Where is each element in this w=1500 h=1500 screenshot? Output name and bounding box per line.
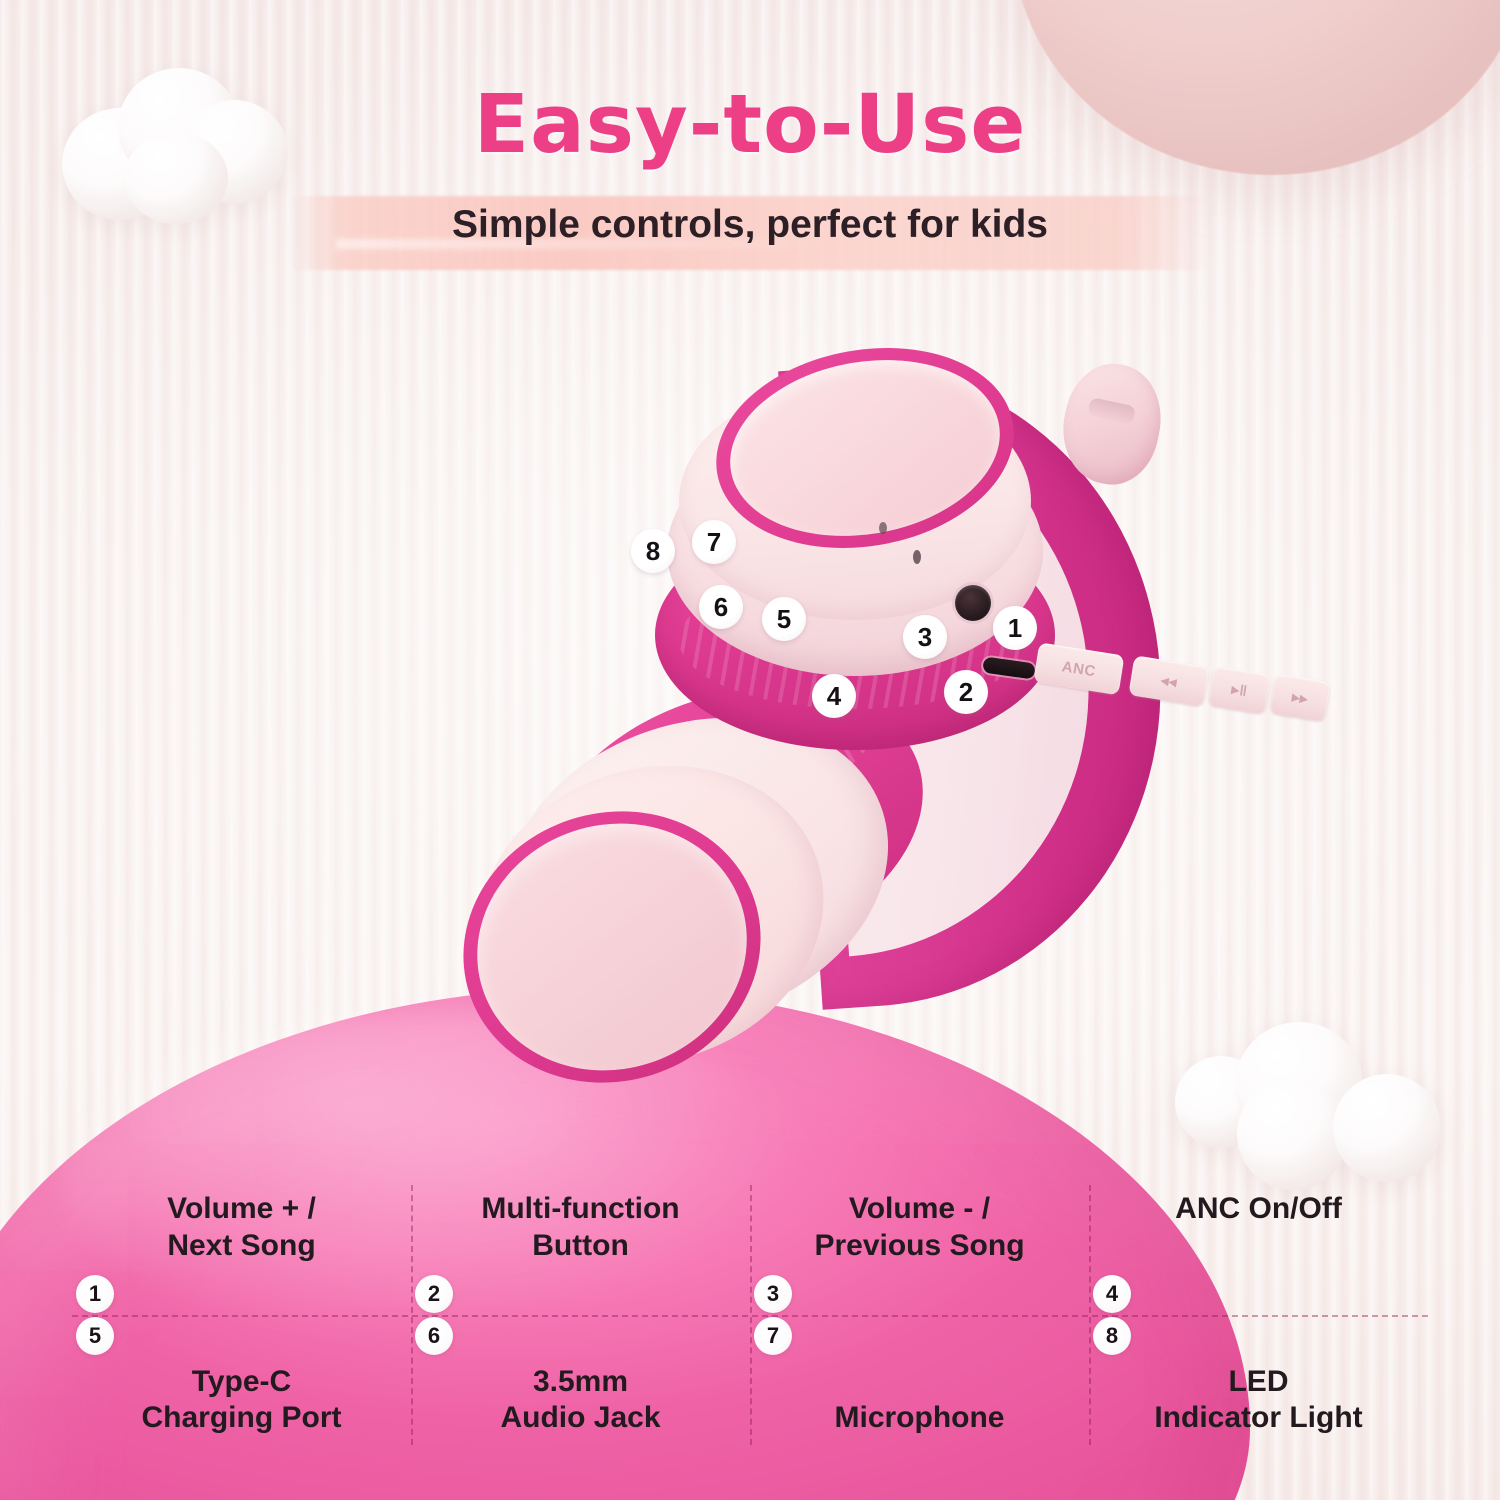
product-callout-1: 1: [993, 606, 1037, 650]
legend-cell-6: 63.5mm Audio Jack: [411, 1315, 750, 1445]
legend-label-4: ANC On/Off: [1175, 1191, 1342, 1228]
legend-label-3: Volume - / Previous Song: [814, 1191, 1024, 1264]
legend-label-1: Volume + / Next Song: [167, 1191, 316, 1264]
legend-row-top: 1Volume + / Next Song2Multi-function But…: [72, 1185, 1428, 1315]
control-legend-grid: 1Volume + / Next Song2Multi-function But…: [72, 1185, 1428, 1445]
legend-label-5: Type-C Charging Port: [142, 1364, 342, 1437]
legend-badge-5: 5: [76, 1317, 114, 1355]
page-title: Easy-to-Use: [0, 78, 1500, 172]
product-callout-4: 4: [812, 674, 856, 718]
product-callout-5: 5: [762, 597, 806, 641]
legend-badge-8: 8: [1093, 1317, 1131, 1355]
product-callout-3: 3: [903, 615, 947, 659]
anc-button[interactable]: ANC: [1033, 642, 1124, 695]
previous-button[interactable]: ◂◂: [1128, 655, 1209, 706]
product-callout-2: 2: [944, 670, 988, 714]
legend-label-7: Microphone: [835, 1400, 1005, 1437]
headphone-product-image: ANC ◂◂ ▸‖ ▸▸: [430, 330, 1230, 1150]
legend-cell-2: 2Multi-function Button: [411, 1185, 750, 1315]
legend-cell-1: 1Volume + / Next Song: [72, 1185, 411, 1315]
legend-badge-6: 6: [415, 1317, 453, 1355]
legend-badge-1: 1: [76, 1275, 114, 1313]
legend-badge-4: 4: [1093, 1275, 1131, 1313]
infographic-stage: Easy-to-Use Simple controls, perfect for…: [0, 0, 1500, 1500]
legend-label-8: LED Indicator Light: [1154, 1364, 1362, 1437]
legend-label-2: Multi-function Button: [481, 1191, 679, 1264]
legend-cell-7: 7Microphone: [750, 1315, 1089, 1445]
legend-cell-4: 4ANC On/Off: [1089, 1185, 1428, 1315]
legend-cell-3: 3Volume - / Previous Song: [750, 1185, 1089, 1315]
product-callout-6: 6: [699, 585, 743, 629]
legend-badge-7: 7: [754, 1317, 792, 1355]
microphone-hole: [913, 550, 921, 564]
legend-cell-8: 8LED Indicator Light: [1089, 1315, 1428, 1445]
product-callout-8: 8: [631, 529, 675, 573]
next-button[interactable]: ▸▸: [1269, 674, 1331, 722]
product-callout-7: 7: [692, 520, 736, 564]
legend-cell-5: 5Type-C Charging Port: [72, 1315, 411, 1445]
earcup-lower: [460, 685, 940, 1135]
audio-jack-port: [955, 585, 991, 621]
legend-badge-2: 2: [415, 1275, 453, 1313]
play-pause-button[interactable]: ▸‖: [1208, 666, 1272, 715]
led-indicator-light: [879, 522, 887, 534]
legend-row-bottom: 5Type-C Charging Port63.5mm Audio Jack7M…: [72, 1315, 1428, 1445]
page-subtitle: Simple controls, perfect for kids: [0, 203, 1500, 247]
legend-label-6: 3.5mm Audio Jack: [500, 1364, 660, 1437]
legend-badge-3: 3: [754, 1275, 792, 1313]
